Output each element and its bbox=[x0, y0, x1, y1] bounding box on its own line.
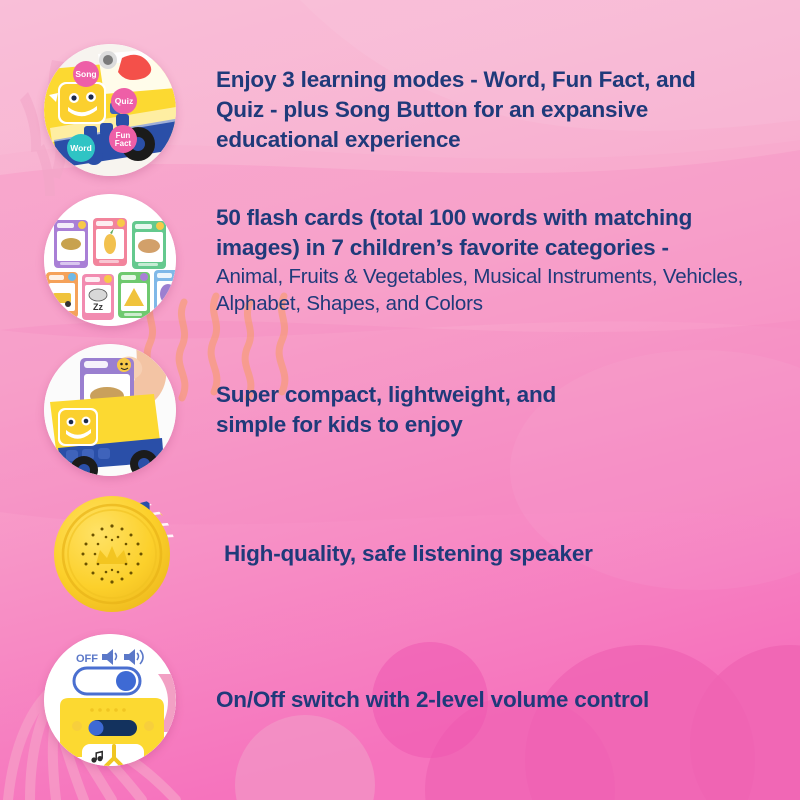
feature-row: High-quality, safe listening speaker bbox=[52, 492, 684, 616]
onoff-switch-photo: OFF bbox=[44, 634, 176, 766]
feature-headline: Super compact, lightweight, and simple f… bbox=[216, 380, 616, 440]
feature-row: Super compact, lightweight, and simple f… bbox=[44, 344, 616, 476]
svg-text:Zz: Zz bbox=[93, 302, 103, 312]
feature-list: Song Quiz Fun Fact Wo bbox=[0, 0, 800, 800]
switch-off-label: OFF bbox=[76, 653, 98, 665]
badge-song-label: Song bbox=[75, 69, 96, 79]
feature-subline: Animal, Fruits & Vegetables, Musical Ins… bbox=[216, 263, 776, 317]
feature-headline: Enjoy 3 learning modes - Word, Fun Fact,… bbox=[216, 65, 736, 155]
feature-text: On/Off switch with 2-level volume contro… bbox=[216, 685, 736, 715]
toy-bus-modes-photo: Song Quiz Fun Fact Wo bbox=[44, 44, 176, 176]
badge-quiz-label: Quiz bbox=[115, 96, 133, 106]
badge-word-label: Word bbox=[70, 143, 92, 153]
feature-thumbnail-wrap: Zz bbox=[44, 194, 176, 326]
music-note-yellow bbox=[160, 502, 168, 516]
toggle-switch-graphic bbox=[74, 668, 140, 694]
feature-thumbnail-wrap bbox=[44, 344, 176, 476]
feature-text: Super compact, lightweight, and simple f… bbox=[216, 380, 616, 440]
badge-song: Song bbox=[73, 61, 99, 87]
feature-text: Enjoy 3 learning modes - Word, Fun Fact,… bbox=[216, 65, 736, 155]
feature-thumbnail-wrap: OFF bbox=[44, 634, 176, 766]
yellow-speaker-photo bbox=[52, 492, 176, 616]
music-note-purple bbox=[170, 501, 176, 532]
feature-thumbnail-wrap: Song Quiz Fun Fact Wo bbox=[44, 44, 176, 176]
feature-text: 50 flash cards (total 100 words with mat… bbox=[216, 203, 776, 317]
badge-fun-fact: Fun Fact bbox=[109, 125, 137, 153]
feature-headline: High-quality, safe listening speaker bbox=[224, 539, 684, 569]
badge-quiz: Quiz bbox=[111, 88, 137, 114]
feature-headline: On/Off switch with 2-level volume contro… bbox=[216, 685, 736, 715]
feature-thumbnail-wrap bbox=[52, 492, 176, 616]
feature-row: Song Quiz Fun Fact Wo bbox=[44, 44, 736, 176]
feature-row: OFF bbox=[44, 634, 736, 766]
flash-cards-grid-photo: Zz bbox=[44, 194, 176, 326]
feature-text: High-quality, safe listening speaker bbox=[224, 539, 684, 569]
badge-word: Word bbox=[67, 134, 95, 162]
hand-inserting-card-photo bbox=[44, 344, 176, 476]
feature-row: Zz bbox=[44, 194, 776, 326]
feature-headline: 50 flash cards (total 100 words with mat… bbox=[216, 203, 776, 263]
svg-text:Fact: Fact bbox=[115, 139, 132, 148]
